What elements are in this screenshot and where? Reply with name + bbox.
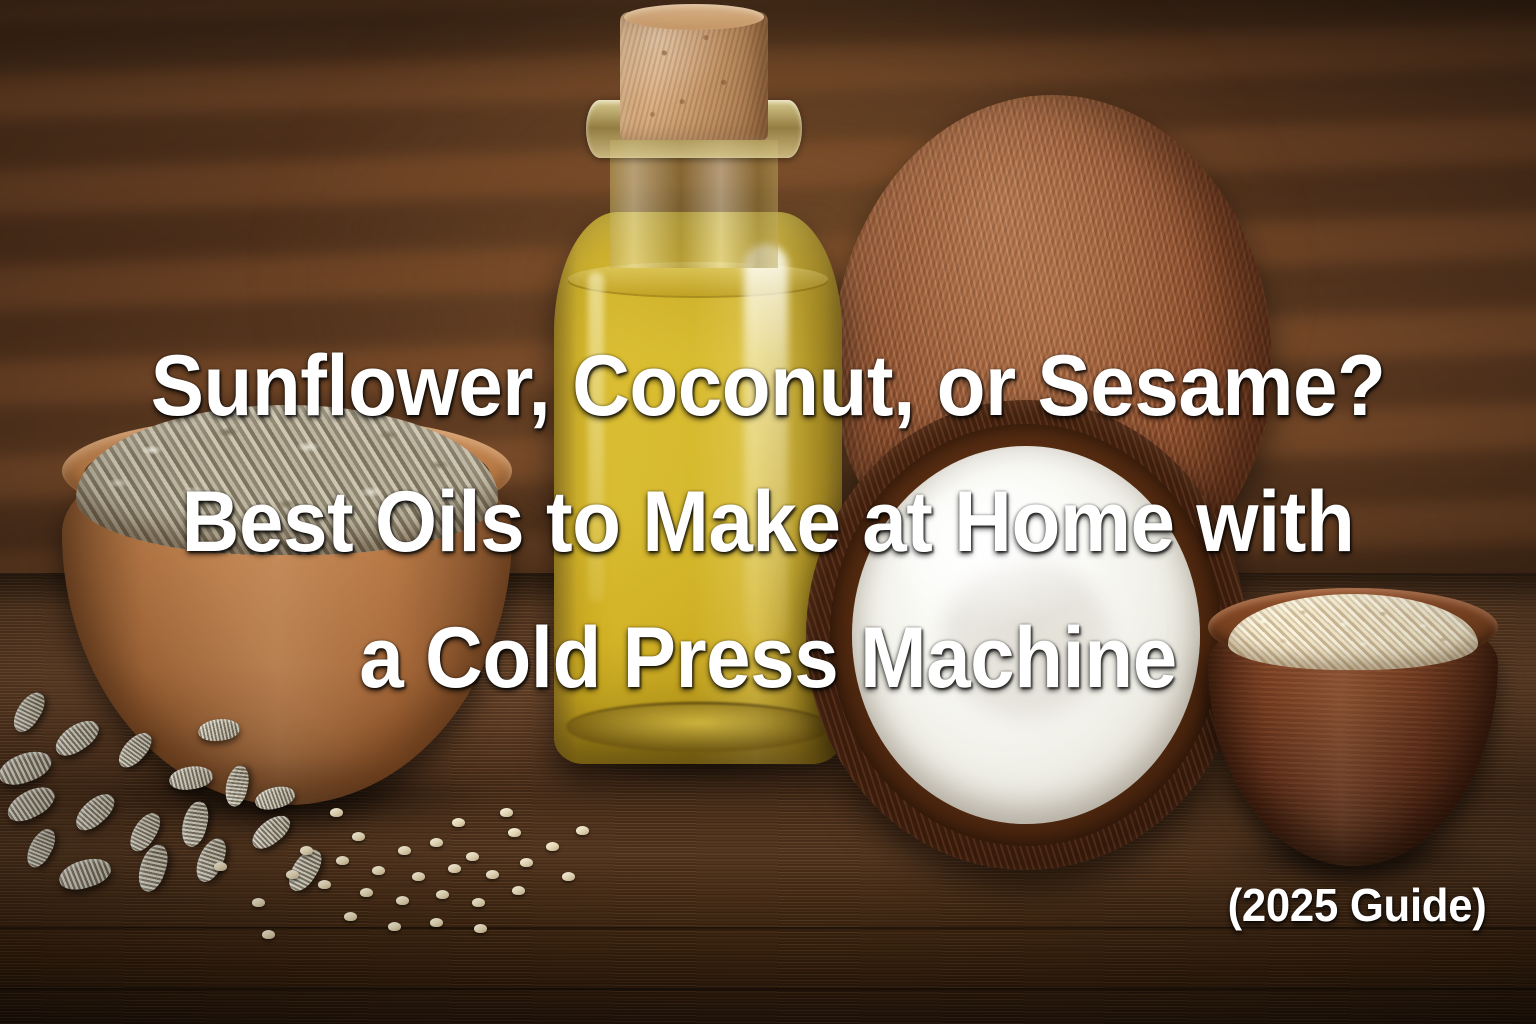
headline-line-1: Sunflower, Coconut, or Sesame? bbox=[54, 318, 1482, 454]
headline-line-2: Best Oils to Make at Home with bbox=[54, 454, 1482, 590]
cork-texture bbox=[620, 12, 768, 140]
guide-year-badge: (2025 Guide) bbox=[1227, 880, 1486, 930]
page-title: Sunflower, Coconut, or Sesame? Best Oils… bbox=[54, 318, 1482, 726]
headline-line-3: a Cold Press Machine bbox=[54, 590, 1482, 726]
cork-stopper bbox=[620, 12, 768, 140]
banner-image: Sunflower, Coconut, or Sesame? Best Oils… bbox=[0, 0, 1536, 1024]
bottle-neck bbox=[610, 140, 778, 268]
plank-seam bbox=[0, 988, 1536, 991]
